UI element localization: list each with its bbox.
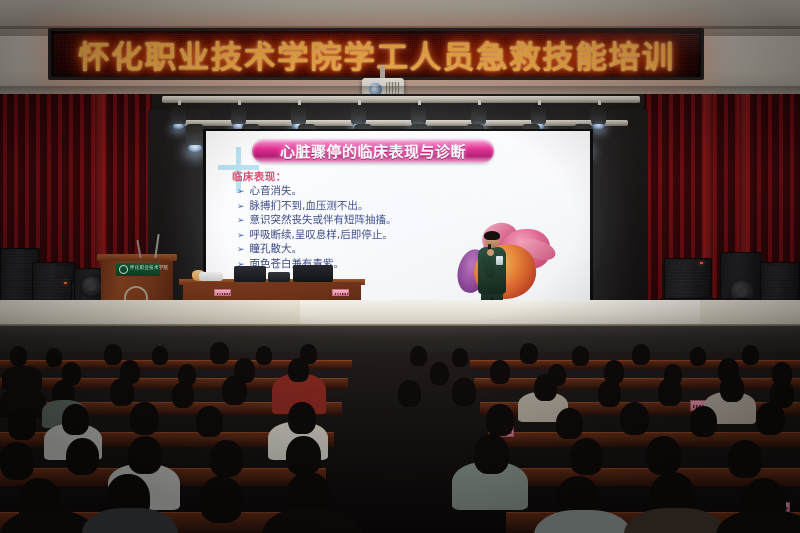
audience-member bbox=[2, 366, 42, 390]
stage-spotlight bbox=[231, 105, 246, 126]
auditorium-scene: 怀化职业技术学院学工人员急救技能培训 心脏骤 bbox=[0, 0, 800, 533]
stage-spotlight bbox=[351, 105, 366, 126]
slide-bullet-text: 心音消失。 bbox=[250, 185, 303, 199]
audience-member bbox=[520, 343, 538, 364]
bullet-arrow-icon: ➢ bbox=[237, 244, 245, 258]
audience-member bbox=[690, 406, 717, 437]
pa-subwoofer-right bbox=[664, 258, 712, 300]
audience-member bbox=[128, 436, 162, 474]
stage-spotlight bbox=[291, 105, 306, 126]
college-emblem-icon bbox=[119, 265, 128, 274]
audience-member bbox=[104, 344, 122, 365]
audience-member bbox=[490, 360, 510, 384]
audience-member bbox=[598, 380, 621, 407]
led-banner: 怀化职业技术学院学工人员急救技能培训 bbox=[48, 28, 704, 80]
audience-member bbox=[210, 342, 229, 364]
slide-title: 心脏骤停的临床表现与诊断 bbox=[280, 141, 466, 162]
slide-bullet-text: 意识突然丧失或伴有短阵抽搐。 bbox=[250, 214, 397, 228]
led-panel: 怀化职业技术学院学工人员急救技能培训 bbox=[54, 34, 698, 74]
lectern-top bbox=[97, 254, 177, 261]
slide-bullet-text: 脉搏扪不到,血压测不出。 bbox=[250, 200, 369, 214]
equipment-case bbox=[234, 266, 266, 282]
audience-member bbox=[410, 346, 427, 366]
presenter-hand bbox=[487, 249, 494, 256]
presenter-hair bbox=[484, 231, 500, 240]
audience-member bbox=[756, 402, 785, 435]
stage-spotlight bbox=[471, 105, 486, 126]
table-name-card bbox=[332, 289, 349, 296]
slide-bullet: ➢心音消失。 bbox=[232, 185, 572, 200]
presenter-badge bbox=[496, 256, 503, 265]
audience-member bbox=[256, 346, 272, 365]
audience-member bbox=[452, 378, 476, 406]
audience-member bbox=[430, 362, 449, 385]
led-banner-text: 怀化职业技术学院学工人员急救技能培训 bbox=[78, 32, 675, 77]
audience-member bbox=[200, 476, 243, 523]
audience-member bbox=[8, 408, 36, 440]
audience-pew bbox=[474, 378, 800, 389]
audience-member bbox=[0, 442, 34, 480]
audience-member bbox=[286, 436, 321, 475]
slide-bullet-text: 呼吸断续,呈叹息样,后即停止。 bbox=[250, 229, 393, 243]
audience-member bbox=[728, 440, 762, 478]
podium-plaque: 怀化职业技术学院 bbox=[116, 263, 160, 276]
stage-spotlight bbox=[171, 105, 186, 126]
slide-bullet-text: 瞳孔散大。 bbox=[250, 243, 303, 257]
audience-member bbox=[646, 436, 681, 475]
audience-member bbox=[10, 346, 27, 366]
slide-title-banner: 心脏骤停的临床表现与诊断 bbox=[252, 139, 494, 163]
audience-member bbox=[66, 438, 99, 475]
stage-spotlight bbox=[531, 105, 546, 126]
speaker-power-led bbox=[700, 262, 703, 264]
audience-member bbox=[452, 348, 468, 367]
audience-member bbox=[210, 440, 243, 477]
slide-bullet: ➢脉搏扪不到,血压测不出。 bbox=[232, 200, 572, 215]
audience-member bbox=[572, 346, 589, 366]
audience-member bbox=[658, 378, 682, 406]
audience-member bbox=[474, 434, 509, 474]
bullet-arrow-icon: ➢ bbox=[237, 230, 245, 244]
audience-member bbox=[288, 358, 309, 382]
stage-spotlight bbox=[591, 105, 606, 126]
audience-member bbox=[398, 380, 421, 407]
par-can-light bbox=[186, 124, 204, 148]
audience-member bbox=[110, 378, 134, 406]
stage-spotlight bbox=[411, 105, 426, 126]
audience-member bbox=[534, 374, 557, 401]
speaker-grille bbox=[668, 262, 708, 296]
table-name-card bbox=[214, 289, 231, 296]
audience-member bbox=[152, 346, 168, 365]
speaker-woofer bbox=[80, 275, 103, 298]
audience-area bbox=[0, 352, 800, 533]
audience-member bbox=[632, 344, 650, 365]
audience-member bbox=[172, 382, 194, 408]
audience-member bbox=[46, 348, 62, 367]
wall-panel-right bbox=[588, 110, 648, 326]
bullet-arrow-icon: ➢ bbox=[237, 215, 245, 229]
audience-member bbox=[222, 376, 247, 405]
lighting-truss-upper bbox=[162, 96, 640, 103]
audience-member bbox=[620, 402, 649, 435]
equipment-case bbox=[268, 272, 290, 282]
audience-member bbox=[720, 374, 744, 402]
audience-member bbox=[742, 345, 759, 365]
audience-member bbox=[62, 404, 89, 435]
audience-member bbox=[556, 408, 583, 439]
audience-member bbox=[288, 402, 316, 434]
audience-member bbox=[570, 438, 603, 475]
equipment-case bbox=[293, 265, 333, 282]
podium-plaque-text: 怀化职业技术学院 bbox=[130, 267, 168, 271]
speaker-power-led bbox=[64, 282, 67, 284]
audience-member bbox=[130, 402, 159, 435]
bullet-arrow-icon: ➢ bbox=[237, 201, 245, 215]
slide-section-heading: 临床表现： bbox=[232, 169, 572, 184]
audience-member bbox=[486, 404, 514, 436]
bullet-arrow-icon: ➢ bbox=[237, 186, 245, 200]
audience-member bbox=[196, 406, 223, 437]
cpr-manikin-torso bbox=[199, 272, 223, 281]
audience-member bbox=[690, 347, 706, 366]
